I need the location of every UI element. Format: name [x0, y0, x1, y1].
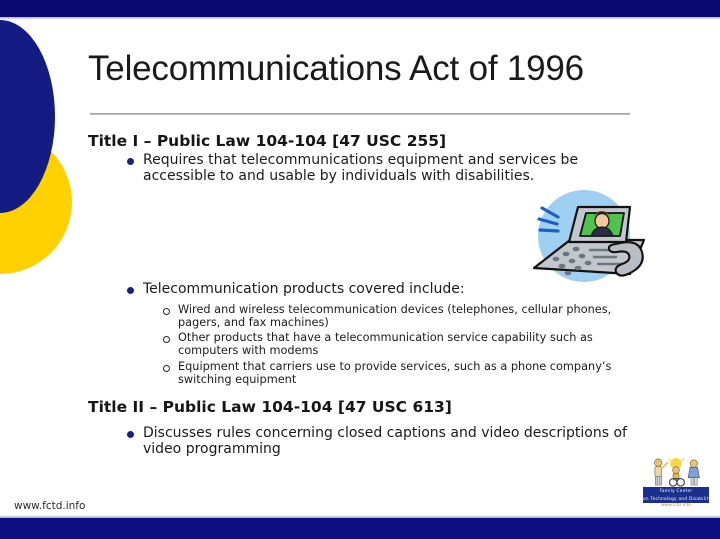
slide: Telecommunications Act of 1996 Title I –…	[0, 0, 720, 539]
bullet-products-covered: Telecommunication products covered inclu…	[127, 281, 557, 297]
bullet-disc-icon	[127, 158, 134, 165]
footer-url: www.fctd.info	[14, 500, 85, 512]
bullet-circle-icon	[163, 308, 170, 315]
bullet-requires: Requires that telecommunications equipme…	[127, 152, 637, 184]
bullet-disc-icon	[127, 287, 134, 294]
bullet-circle-icon	[163, 365, 170, 372]
bullet-text: Requires that telecommunications equipme…	[143, 152, 637, 184]
subbullet-text: Equipment that carriers use to provide s…	[178, 360, 643, 386]
section-heading-title-1: Title I – Public Law 104-104 [47 USC 255…	[88, 132, 446, 150]
logo-line-1: Family Center	[643, 487, 709, 495]
videophone-icon	[512, 186, 662, 291]
bullet-text: Discusses rules concerning closed captio…	[143, 425, 667, 457]
bullet-circle-icon	[163, 336, 170, 343]
logo-figures-icon	[640, 457, 712, 487]
bullet-discusses-rules: Discusses rules concerning closed captio…	[127, 425, 667, 457]
bullet-text: Telecommunication products covered inclu…	[143, 281, 465, 297]
fctd-logo: Family Center on Technology and Disabili…	[640, 457, 712, 509]
section-heading-title-2: Title II – Public Law 104-104 [47 USC 61…	[88, 398, 452, 416]
subbullet-text: Other products that have a telecommunica…	[178, 331, 643, 357]
subbullet-carrier-equipment: Equipment that carriers use to provide s…	[163, 360, 643, 386]
subbullet-text: Wired and wireless telecommunication dev…	[178, 303, 643, 329]
subbullet-other-products: Other products that have a telecommunica…	[163, 331, 643, 357]
bullet-disc-icon	[127, 431, 134, 438]
subbullet-wired-wireless: Wired and wireless telecommunication dev…	[163, 303, 643, 329]
logo-url: www.fctd.info	[643, 503, 709, 508]
bottom-navy-bar	[0, 518, 720, 539]
logo-line-2: on Technology and Disability	[643, 495, 709, 503]
